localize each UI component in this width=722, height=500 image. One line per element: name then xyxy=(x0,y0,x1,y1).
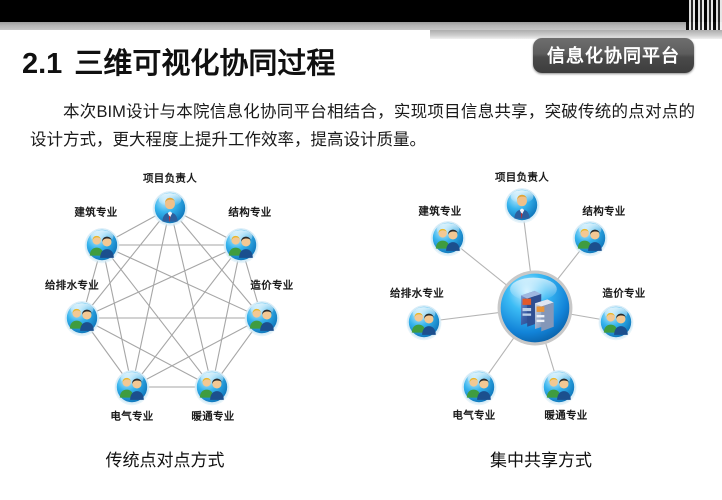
node-label-hvac: 暖通专业 xyxy=(191,409,234,424)
node-label-plumb: 给排水专业 xyxy=(45,278,99,293)
page-title-number: 2.1 xyxy=(22,48,62,80)
node-label-plumb: 给排水专业 xyxy=(390,286,444,301)
node-platform[interactable] xyxy=(496,269,574,347)
node-plumb[interactable] xyxy=(405,303,443,341)
node-label-elec: 电气专业 xyxy=(452,408,495,423)
node-label-elec: 电气专业 xyxy=(110,409,153,424)
node-cost[interactable] xyxy=(243,299,281,337)
node-elec[interactable] xyxy=(460,368,498,406)
slide-canvas: 2.1三维可视化协同过程 信息化协同平台 本次BIM设计与本院信息化协同平台相结… xyxy=(0,0,722,500)
node-label-struct: 结构专业 xyxy=(582,204,625,219)
node-plumb[interactable] xyxy=(63,299,101,337)
node-cost[interactable] xyxy=(597,303,635,341)
diagram-peer-to-peer: 项目负责人 建筑专业 xyxy=(10,160,355,430)
node-label-arch: 建筑专业 xyxy=(418,204,461,219)
node-label-struct: 结构专业 xyxy=(228,205,271,220)
node-label-manager: 项目负责人 xyxy=(143,171,197,186)
page-title-text: 三维可视化协同过程 xyxy=(74,48,335,80)
node-manager[interactable] xyxy=(151,189,189,227)
node-arch[interactable] xyxy=(83,226,121,264)
top-black-band xyxy=(0,0,722,22)
node-arch[interactable] xyxy=(429,219,467,257)
node-manager[interactable] xyxy=(503,186,541,224)
caption-right: 集中共享方式 xyxy=(490,446,592,471)
page-title: 2.1三维可视化协同过程 xyxy=(22,40,335,82)
node-label-cost: 造价专业 xyxy=(250,278,293,293)
edge-line xyxy=(212,245,241,387)
node-label-manager: 项目负责人 xyxy=(495,170,549,185)
node-hvac[interactable] xyxy=(193,368,231,406)
top-gray-band xyxy=(0,22,722,30)
corner-stripes-decoration xyxy=(686,0,722,30)
node-elec[interactable] xyxy=(113,368,151,406)
node-label-cost: 造价专业 xyxy=(602,286,645,301)
diagram-centralized: 项目负责人 建筑专业 xyxy=(372,160,717,430)
node-label-hvac: 暖通专业 xyxy=(544,408,587,423)
node-struct[interactable] xyxy=(222,226,260,264)
node-label-arch: 建筑专业 xyxy=(74,205,117,220)
node-struct[interactable] xyxy=(571,219,609,257)
status-badge: 信息化协同平台 xyxy=(533,38,694,73)
body-paragraph: 本次BIM设计与本院信息化协同平台相结合，实现项目信息共享，突破传统的点对点的设… xyxy=(30,98,695,154)
edge-line xyxy=(132,208,170,387)
caption-left: 传统点对点方式 xyxy=(106,446,225,471)
node-hvac[interactable] xyxy=(540,368,578,406)
